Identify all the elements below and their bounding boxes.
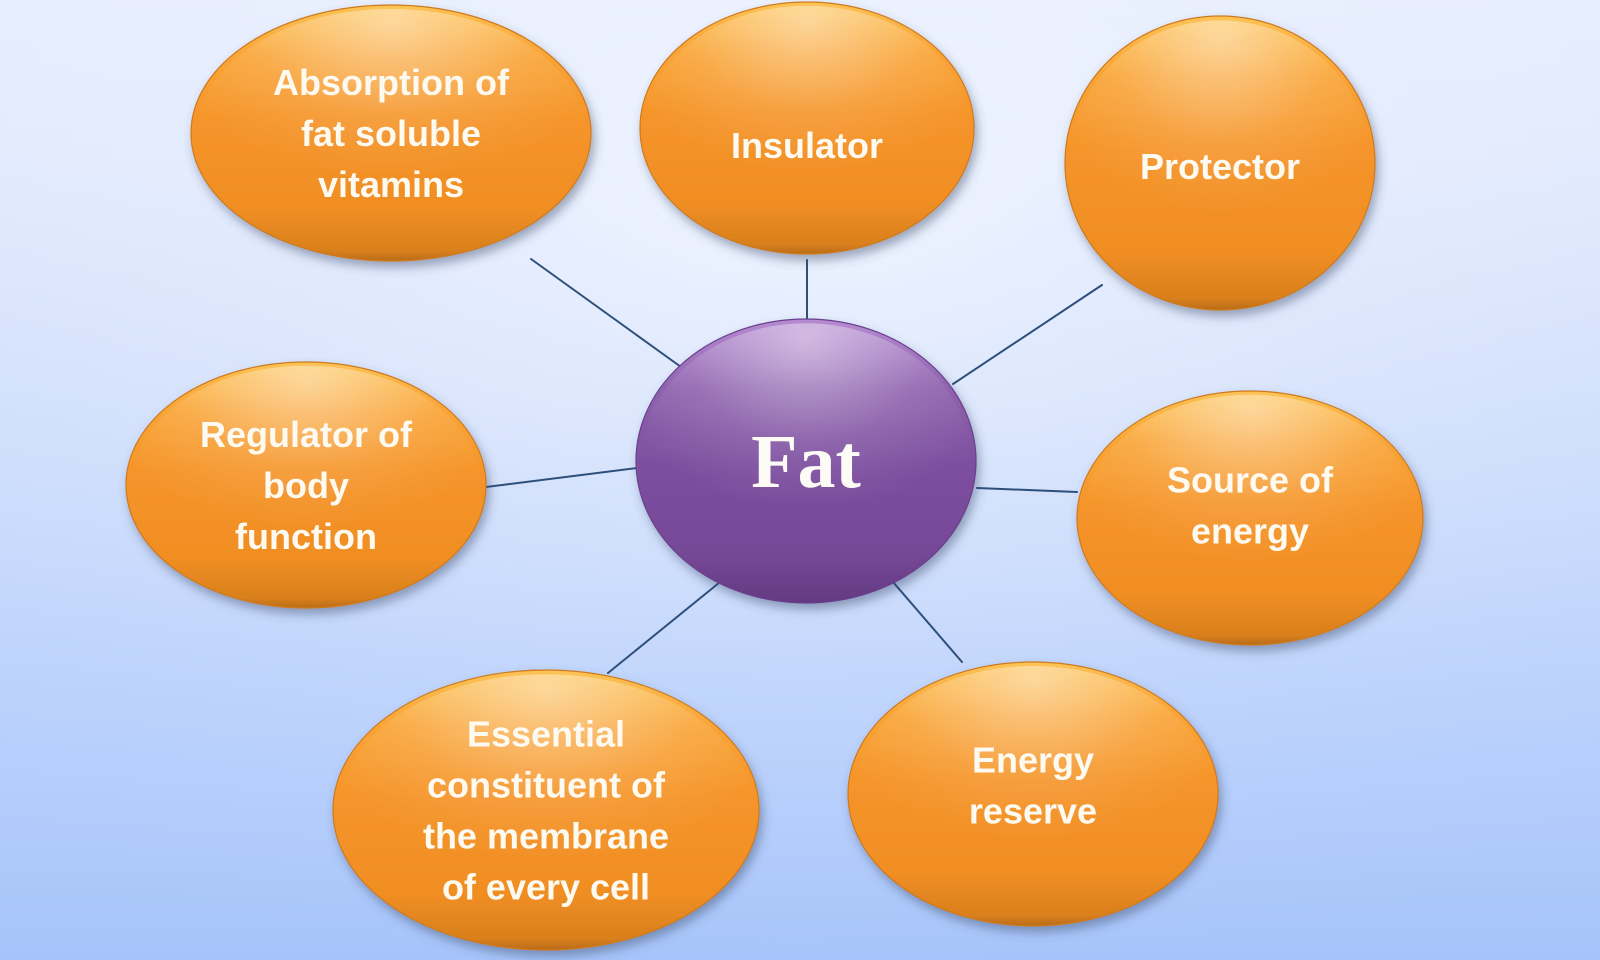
node-label-line: body: [263, 465, 349, 506]
center-node-group: Fat: [636, 319, 976, 603]
node-label-line: Source of: [1167, 460, 1334, 501]
diagram-canvas: Absorption offat solublevitaminsInsulato…: [0, 0, 1600, 960]
connector-essential-constituent: [608, 578, 725, 673]
node-energy-reserve[interactable]: Energyreserve: [848, 662, 1218, 926]
connector-protector: [953, 285, 1102, 384]
node-label-line: Absorption of: [273, 62, 510, 103]
center-node-label: Fat: [751, 420, 861, 504]
node-label-line: reserve: [969, 791, 1097, 832]
node-absorption[interactable]: Absorption offat solublevitamins: [191, 5, 591, 261]
node-source-of-energy[interactable]: Source ofenergy: [1077, 391, 1423, 645]
node-label-line: Energy: [972, 740, 1094, 781]
node-label-line: Regulator of: [200, 414, 413, 455]
node-label: Protector: [1140, 146, 1300, 187]
node-label: Insulator: [731, 125, 883, 166]
node-essential-constituent[interactable]: Essentialconstituent ofthe membraneof ev…: [333, 670, 759, 950]
node-insulator[interactable]: Insulator: [640, 2, 974, 254]
node-protector[interactable]: Protector: [1065, 16, 1375, 310]
node-label-line: of every cell: [442, 867, 650, 908]
connector-absorption: [531, 259, 688, 372]
connector-regulator: [486, 468, 637, 487]
node-label-line: function: [235, 516, 377, 557]
node-label-line: fat soluble: [301, 113, 481, 154]
node-center-fat[interactable]: Fat: [636, 319, 976, 603]
mind-map: Absorption offat solublevitaminsInsulato…: [0, 0, 1600, 960]
node-label-line: the membrane: [423, 816, 669, 857]
node-label-line: vitamins: [318, 164, 464, 205]
node-regulator[interactable]: Regulator ofbodyfunction: [126, 362, 486, 608]
node-label-line: Protector: [1140, 146, 1300, 187]
node-label-line: Insulator: [731, 125, 883, 166]
node-label-line: constituent of: [427, 765, 666, 806]
node-label-line: energy: [1191, 511, 1309, 552]
node-label-line: Essential: [467, 714, 625, 755]
connector-source-of-energy: [977, 488, 1077, 492]
